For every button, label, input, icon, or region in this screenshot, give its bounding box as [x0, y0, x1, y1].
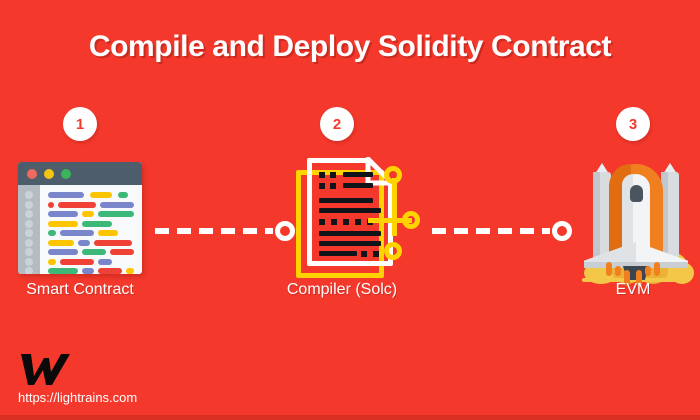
- window-close-dot-icon: [27, 169, 37, 179]
- connector-2-dashes: [432, 228, 550, 234]
- document-bullet: [319, 219, 325, 225]
- code-line: [40, 230, 142, 236]
- document-bullet: [330, 172, 336, 178]
- editor-gutter-dot: [25, 210, 33, 218]
- step-badge-2-number: 2: [333, 116, 341, 133]
- code-line: [40, 268, 142, 274]
- code-token: [48, 259, 56, 265]
- code-token: [118, 192, 128, 198]
- code-token: [98, 259, 112, 265]
- code-token: [48, 249, 78, 255]
- editor-gutter-dot: [25, 191, 33, 199]
- editor-code-area: [40, 185, 142, 274]
- code-token: [82, 268, 94, 274]
- code-token: [90, 192, 112, 198]
- step-badge-1: 1: [63, 107, 97, 141]
- code-token: [78, 240, 90, 246]
- step-badge-1-number: 1: [76, 116, 84, 133]
- code-token: [82, 221, 112, 227]
- document-line: [343, 172, 373, 177]
- editor-titlebar: [18, 162, 142, 185]
- code-line: [40, 211, 142, 217]
- code-token: [48, 202, 54, 208]
- engine-flame: [615, 266, 621, 276]
- circuit-trunk: [392, 178, 397, 236]
- code-token: [48, 221, 78, 227]
- engine-flame: [654, 262, 660, 276]
- editor-gutter-dot: [25, 229, 33, 237]
- connector-1-endpoint: [275, 221, 295, 241]
- connector-2-endpoint: [552, 221, 572, 241]
- editor-gutter: [18, 185, 40, 274]
- document-bullet: [319, 172, 325, 178]
- editor-gutter-dot: [25, 220, 33, 228]
- code-token: [110, 249, 134, 255]
- code-token: [82, 249, 106, 255]
- footer: https://lightrains.com: [18, 352, 278, 408]
- editor-gutter-dot: [25, 267, 33, 274]
- document-bullet: [331, 219, 337, 225]
- lightrains-logo: [18, 352, 74, 386]
- document-compiler-icon: [296, 158, 424, 280]
- window-maximize-dot-icon: [61, 169, 71, 179]
- step-label-smart-contract: Smart Contract: [0, 281, 160, 299]
- engine-flame: [645, 266, 651, 276]
- code-token: [48, 230, 56, 236]
- infographic-canvas: Compile and Deploy Solidity Contract 1 2…: [0, 0, 700, 420]
- step-badge-2: 2: [320, 107, 354, 141]
- code-token: [126, 268, 134, 274]
- document-line: [319, 198, 373, 203]
- editor-gutter-dot: [25, 201, 33, 209]
- document-bullet: [343, 219, 349, 225]
- code-token: [60, 259, 94, 265]
- code-token: [58, 202, 96, 208]
- editor-gutter-dot: [25, 239, 33, 247]
- connector-1-dashes: [155, 228, 273, 234]
- document-bullet: [319, 183, 325, 189]
- code-token: [98, 211, 134, 217]
- code-editor-icon: [18, 162, 142, 274]
- code-token: [48, 192, 84, 198]
- connector-1: [155, 220, 295, 242]
- code-line: [40, 192, 142, 198]
- code-line: [40, 249, 142, 255]
- editor-gutter-dot: [25, 248, 33, 256]
- document-line: [343, 183, 373, 188]
- code-line: [40, 259, 142, 265]
- bottom-divider: [0, 415, 700, 420]
- orbiter-window-icon: [630, 185, 643, 202]
- code-token: [48, 268, 78, 274]
- code-token: [98, 230, 118, 236]
- step-badge-3-number: 3: [629, 116, 637, 133]
- circuit-node-top: [384, 166, 402, 184]
- code-token: [98, 268, 122, 274]
- code-line: [40, 221, 142, 227]
- connector-2: [432, 220, 572, 242]
- code-token: [94, 240, 132, 246]
- editor-gutter-dot: [25, 258, 33, 266]
- code-token: [100, 202, 134, 208]
- page-title: Compile and Deploy Solidity Contract: [0, 30, 700, 64]
- step-label-evm: EVM: [553, 281, 700, 299]
- step-badge-3: 3: [616, 107, 650, 141]
- site-url: https://lightrains.com: [18, 390, 137, 405]
- code-token: [48, 211, 78, 217]
- step-label-compiler: Compiler (Solc): [262, 281, 422, 299]
- code-line: [40, 202, 142, 208]
- engine-flame: [606, 262, 612, 276]
- circuit-tree-icon: [372, 166, 424, 270]
- code-token: [82, 211, 94, 217]
- code-token: [60, 230, 94, 236]
- booster-left-shadow: [593, 172, 600, 258]
- code-line: [40, 240, 142, 246]
- document-bullet: [361, 251, 367, 257]
- document-bullet: [330, 183, 336, 189]
- circuit-node-bottom: [384, 242, 402, 260]
- rocket-launch-icon: [578, 158, 694, 282]
- document-bullet: [355, 219, 361, 225]
- document-line: [319, 251, 357, 256]
- code-token: [48, 240, 74, 246]
- circuit-node-mid: [402, 211, 420, 229]
- window-minimize-dot-icon: [44, 169, 54, 179]
